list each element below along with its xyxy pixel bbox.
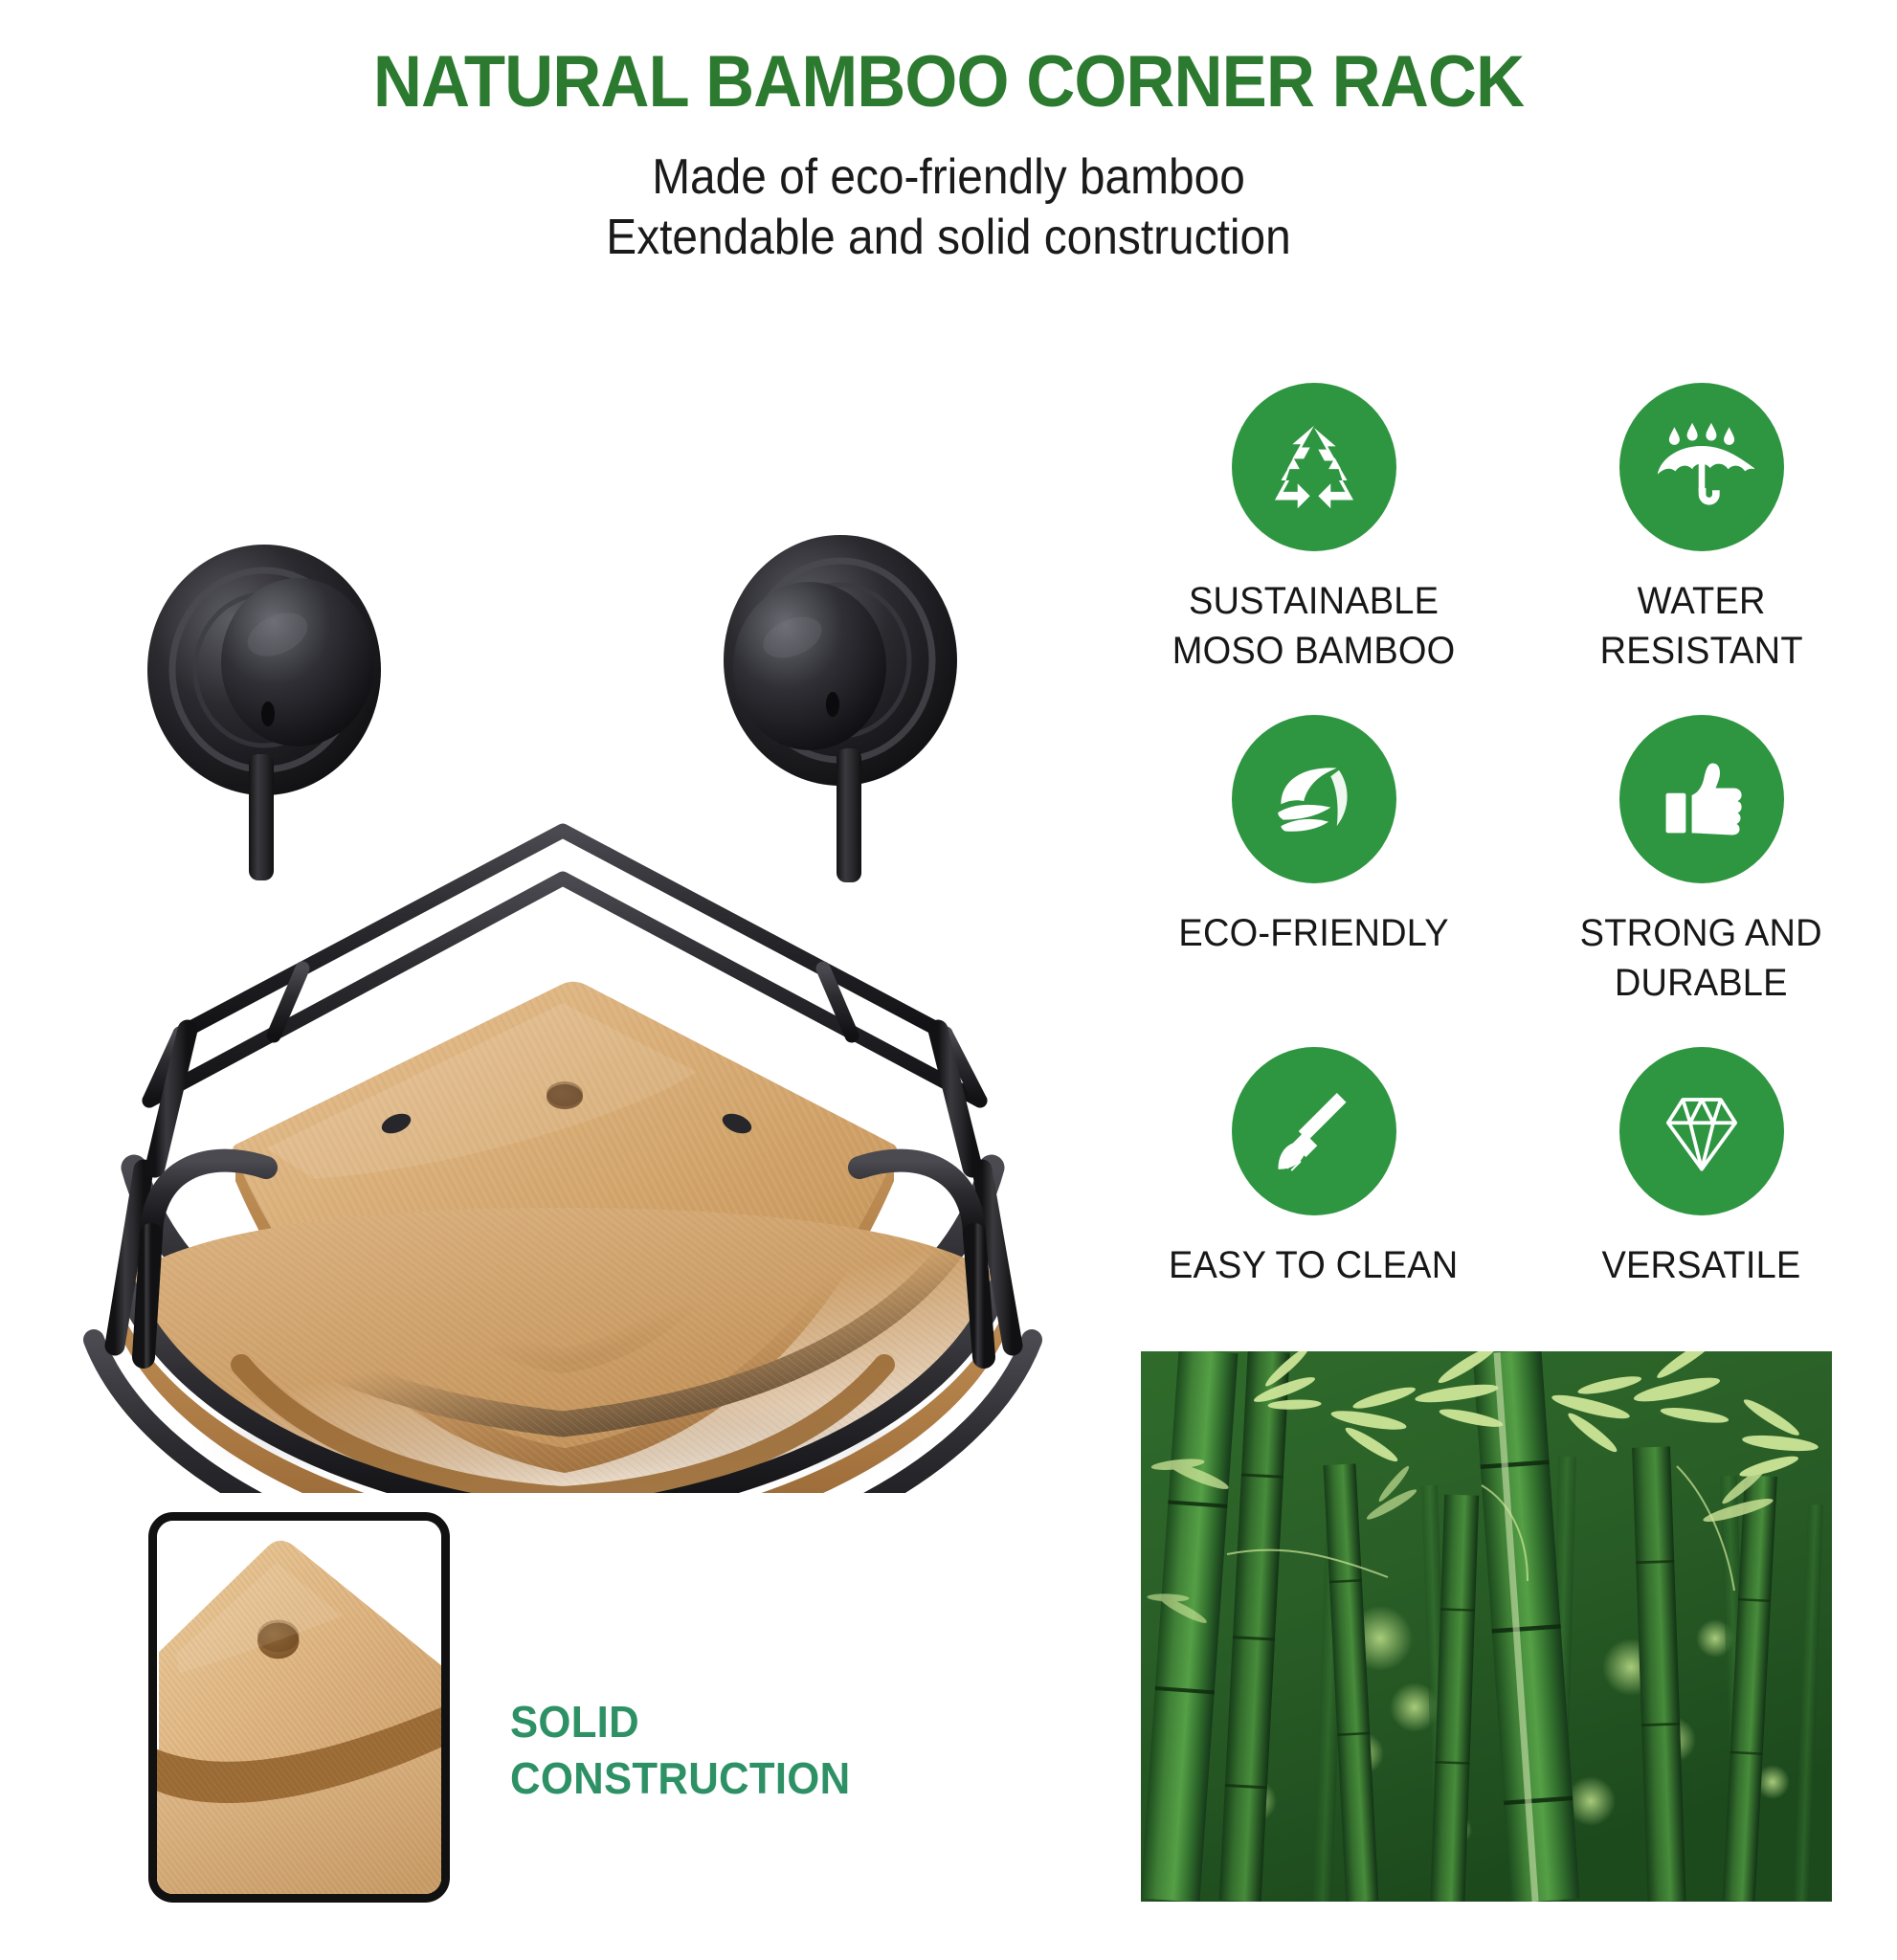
recycle-icon <box>1262 415 1366 519</box>
feature-label: SUSTAINABLE MOSO BAMBOO <box>1172 576 1456 676</box>
solid-construction-block: SOLID CONSTRUCTION <box>148 1512 1048 1914</box>
feature-label: VERSATILE <box>1602 1240 1801 1290</box>
suction-cup-right <box>724 535 957 882</box>
feature-item-water-resistant: WATER RESISTANT <box>1517 383 1886 715</box>
leaf-icon <box>1262 747 1366 851</box>
subtitle-line-1: Made of eco-friendly bamboo <box>76 147 1820 208</box>
feature-badge <box>1619 715 1784 883</box>
feature-item-easy-to-clean: EASY TO CLEAN <box>1129 1047 1498 1379</box>
bamboo-lower-board <box>115 1208 1011 1493</box>
suction-cup-left <box>147 545 381 880</box>
feature-badge <box>1232 383 1396 551</box>
feature-label: STRONG AND DURABLE <box>1580 908 1822 1008</box>
feature-label: EASY TO CLEAN <box>1169 1240 1458 1290</box>
feature-item-sustainable: SUSTAINABLE MOSO BAMBOO <box>1129 383 1498 715</box>
feature-item-strong-durable: STRONG AND DURABLE <box>1517 715 1886 1047</box>
broom-icon <box>1262 1080 1366 1183</box>
feature-label: WATER RESISTANT <box>1599 576 1802 676</box>
solid-construction-photo-frame <box>148 1512 450 1903</box>
umbrella-icon <box>1649 414 1754 520</box>
product-illustration <box>27 498 1099 1493</box>
diamond-icon <box>1649 1079 1754 1184</box>
product-photo <box>27 498 1099 1493</box>
subtitle-block: Made of eco-friendly bamboo Extendable a… <box>76 147 1820 269</box>
feature-item-eco-friendly: ECO-FRIENDLY <box>1129 715 1498 1047</box>
subtitle-line-2: Extendable and solid construction <box>76 208 1820 268</box>
page-title: NATURAL BAMBOO CORNER RACK <box>66 0 1830 119</box>
feature-grid: SUSTAINABLE MOSO BAMBOO WATER RESI <box>1129 383 1886 1379</box>
feature-badge <box>1232 1047 1396 1215</box>
solid-construction-illustration <box>157 1521 441 1894</box>
feature-badge <box>1619 1047 1784 1215</box>
feature-badge <box>1619 383 1784 551</box>
feature-item-versatile: VERSATILE <box>1517 1047 1886 1379</box>
feature-badge <box>1232 715 1396 883</box>
feature-label: ECO-FRIENDLY <box>1178 908 1448 958</box>
bamboo-forest-photo <box>1141 1351 1832 1902</box>
thumbs-up-icon <box>1652 749 1752 849</box>
bamboo-forest-illustration <box>1141 1351 1832 1902</box>
header-block: NATURAL BAMBOO CORNER RACK Made of eco-f… <box>0 0 1897 269</box>
solid-construction-caption: SOLID CONSTRUCTION <box>510 1694 850 1807</box>
